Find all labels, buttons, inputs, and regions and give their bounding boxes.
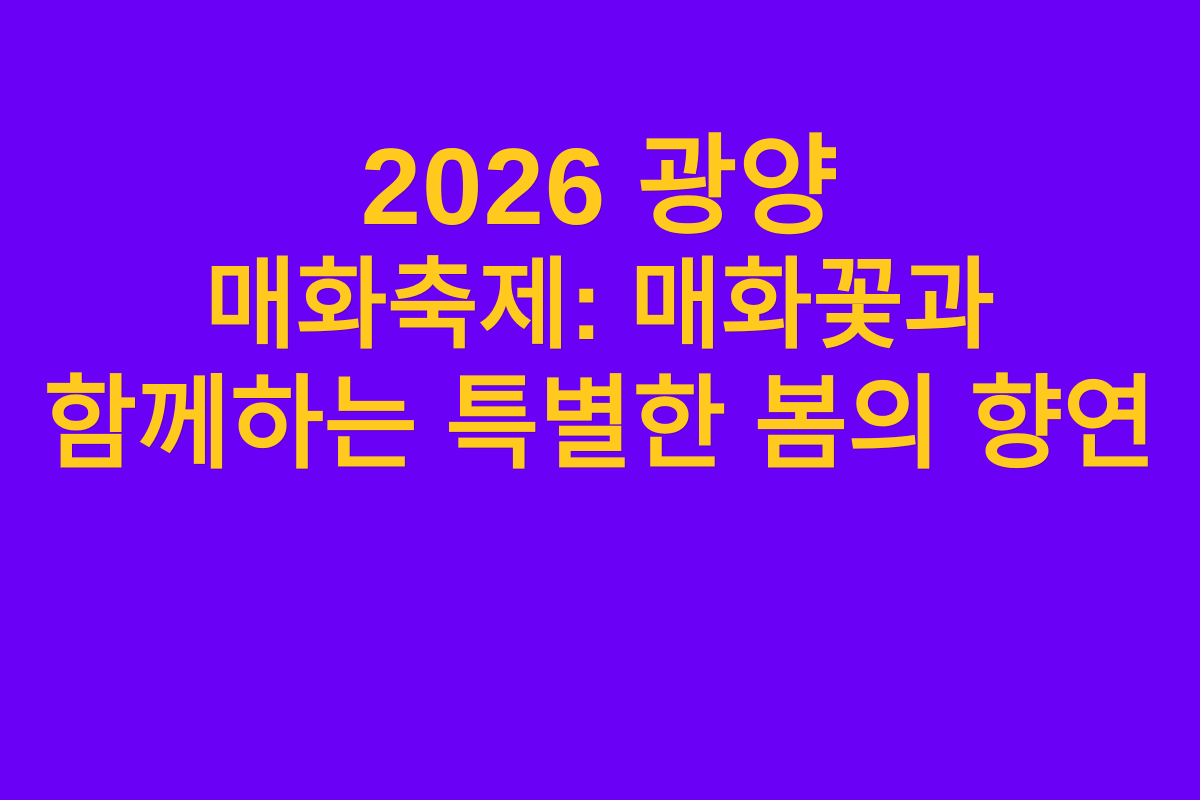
headline-line-3: 함께하는 특별한 봄의 향연 [44,365,1157,483]
headline-block: 2026 광양 매화축제: 매화꽃과 함께하는 특별한 봄의 향연 [0,0,1200,800]
headline-line-2: 매화축제: 매화꽃과 [205,247,995,365]
headline-line-1: 2026 광양 [361,129,840,247]
promo-banner: 2026 광양 매화축제: 매화꽃과 함께하는 특별한 봄의 향연 [0,0,1200,800]
